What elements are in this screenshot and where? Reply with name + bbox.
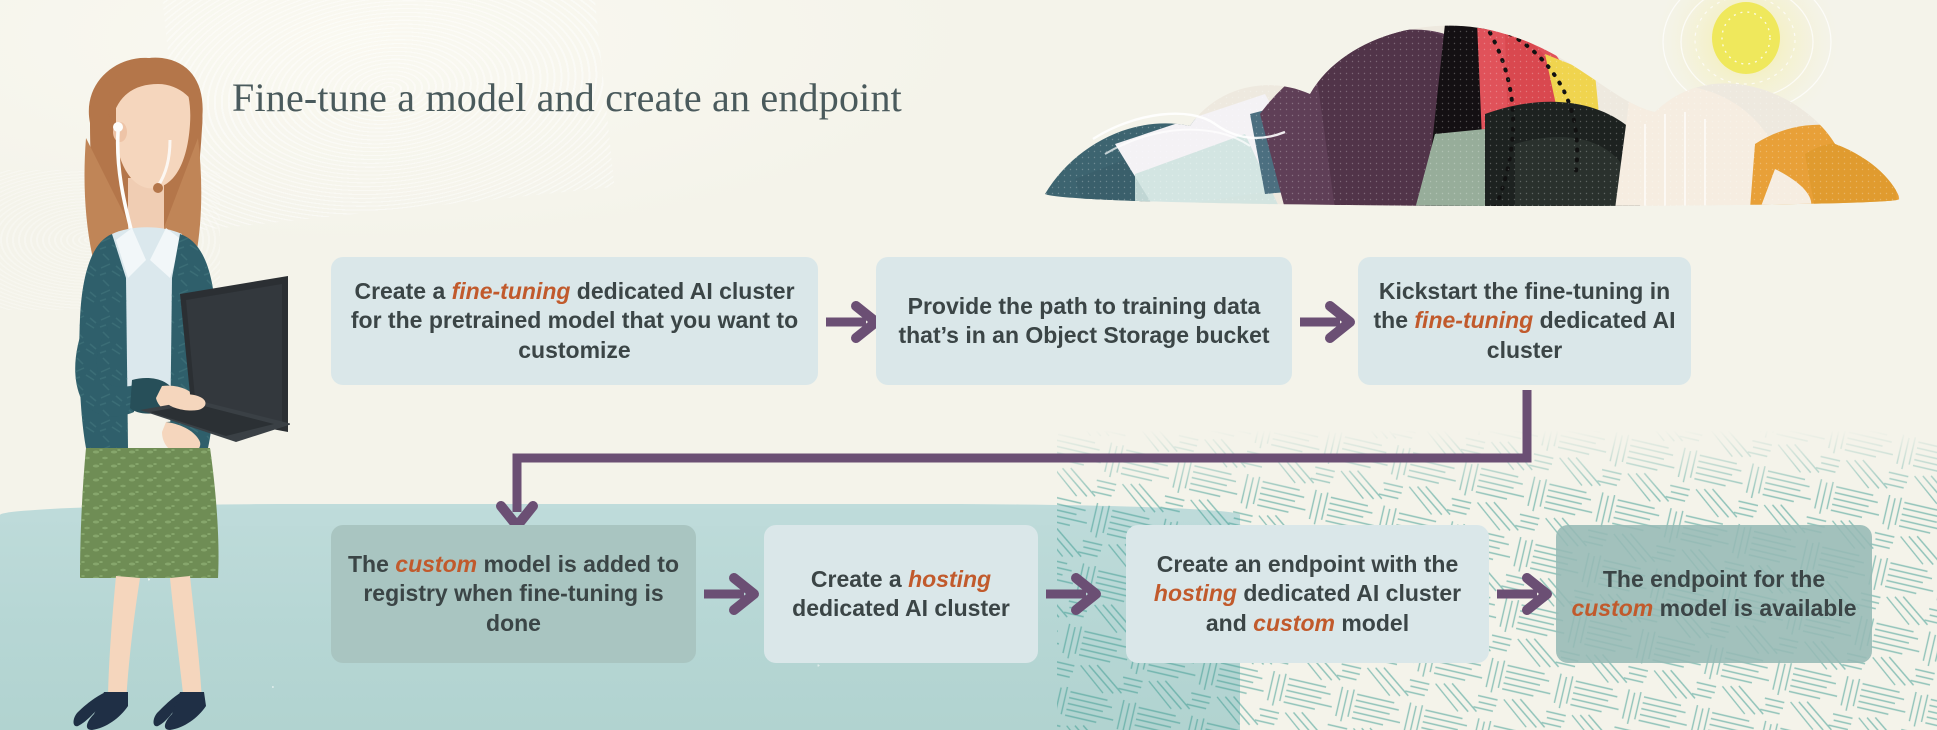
box-endpoint-available[interactable]: The endpoint for the custom model is ava… [1556, 525, 1872, 663]
abstract-mountain-collage-illustration [1015, 0, 1937, 224]
box-create-hosting-cluster[interactable]: Create a hosting dedicated AI cluster [764, 525, 1038, 663]
box-text: Provide the path to training data that’s… [890, 292, 1278, 351]
infographic-canvas: Fine-tune a model and create an endpoint [0, 0, 1937, 730]
box-text: Create a fine-tuning dedicated AI cluste… [345, 277, 804, 365]
box-create-finetuning-cluster[interactable]: Create a fine-tuning dedicated AI cluste… [331, 257, 818, 385]
box-text: Create a hosting dedicated AI cluster [778, 565, 1024, 624]
box-text: The custom model is added to registry wh… [345, 550, 682, 638]
woman-with-laptop-illustration [20, 28, 290, 730]
box-provide-training-data-path[interactable]: Provide the path to training data that’s… [876, 257, 1292, 385]
box-text: The endpoint for the custom model is ava… [1570, 565, 1858, 624]
box-create-endpoint[interactable]: Create an endpoint with the hosting dedi… [1126, 525, 1489, 663]
page-title: Fine-tune a model and create an endpoint [232, 74, 902, 121]
box-kickstart-finetuning[interactable]: Kickstart the fine-tuning in the fine-tu… [1358, 257, 1691, 385]
box-custom-model-registry[interactable]: The custom model is added to registry wh… [331, 525, 696, 663]
box-text: Kickstart the fine-tuning in the fine-tu… [1372, 277, 1677, 365]
box-text: Create an endpoint with the hosting dedi… [1140, 550, 1475, 638]
